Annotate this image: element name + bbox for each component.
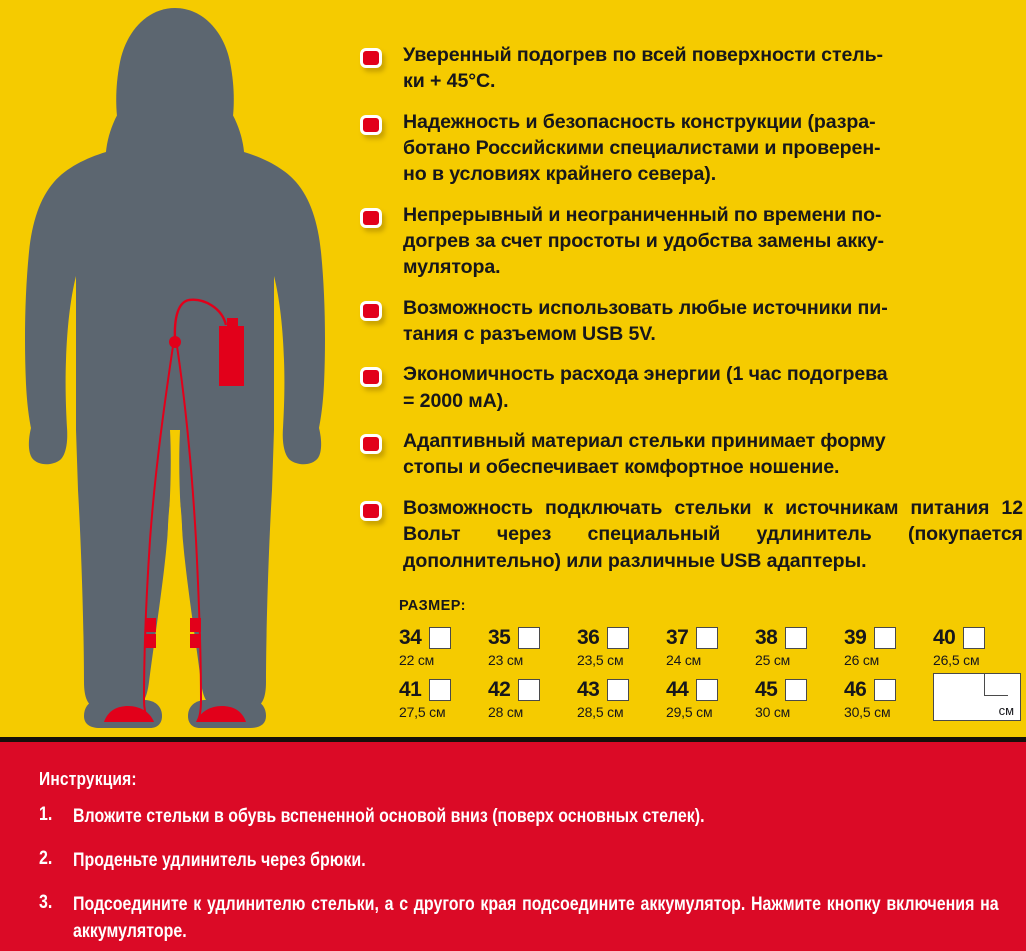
feature-item: Непрерывный и неограниченный по времени … (357, 202, 1023, 281)
size-cell-42[interactable]: 42 28 см (488, 677, 577, 720)
size-selector: РАЗМЕР: 34 22 см 35 23 см 36 (399, 598, 1023, 729)
size-row: 34 22 см 35 23 см 36 23,5 см (399, 625, 1023, 668)
size-number: 40 (933, 626, 955, 650)
instructions-list: 1. Вложите стельки в обувь вспененной ос… (39, 804, 999, 951)
instruction-text: Вложите стельки в обувь вспененной основ… (73, 804, 999, 831)
feature-text: Адаптивный материал стельки принимает фо… (403, 428, 1023, 481)
battery-pack (219, 326, 244, 386)
size-checkbox[interactable] (874, 679, 896, 701)
size-checkbox[interactable] (785, 679, 807, 701)
size-checkbox[interactable] (429, 679, 451, 701)
silhouette-illustration (0, 0, 352, 737)
feature-item: Возможность использовать любые источники… (357, 295, 1023, 348)
size-cell-39[interactable]: 39 26 см (844, 625, 933, 668)
size-cell-40[interactable]: 40 26,5 см (933, 625, 1022, 668)
feature-item: Экономичность расхода энергии (1 час под… (357, 361, 1023, 414)
size-cm: 30 см (755, 704, 844, 720)
instruction-number: 2. (39, 848, 52, 870)
bullet-icon (360, 301, 382, 321)
size-cell-46[interactable]: 46 30,5 см (844, 677, 933, 720)
right-connector-lower (190, 634, 201, 648)
size-cell-43[interactable]: 43 28,5 см (577, 677, 666, 720)
feature-item: Адаптивный материал стельки принимает фо… (357, 428, 1023, 481)
size-cell-44[interactable]: 44 29,5 см (666, 677, 755, 720)
size-cm: 23,5 см (577, 652, 666, 668)
size-cell-37[interactable]: 37 24 см (666, 625, 755, 668)
instructions-section: Инструкция: 1. Вложите стельки в обувь в… (0, 742, 1026, 951)
size-checkbox[interactable] (607, 627, 629, 649)
size-cm: 23 см (488, 652, 577, 668)
size-number: 34 (399, 626, 421, 650)
size-number: 44 (666, 678, 688, 702)
bullet-icon (360, 48, 382, 68)
size-title: РАЗМЕР: (399, 598, 1023, 614)
size-number: 35 (488, 626, 510, 650)
size-cell-36[interactable]: 36 23,5 см (577, 625, 666, 668)
size-cell-34[interactable]: 34 22 см (399, 625, 488, 668)
instruction-item: 1. Вложите стельки в обувь вспененной ос… (39, 804, 999, 831)
measurement-notch (984, 674, 1008, 696)
bullet-icon (360, 434, 382, 454)
size-checkbox[interactable] (785, 627, 807, 649)
size-checkbox[interactable] (518, 679, 540, 701)
instruction-number: 1. (39, 804, 52, 826)
battery-pack-tab (227, 318, 238, 327)
size-number: 37 (666, 626, 688, 650)
size-cm: 26 см (844, 652, 933, 668)
size-cm: 22 см (399, 652, 488, 668)
size-checkbox[interactable] (696, 627, 718, 649)
size-cm: 28,5 см (577, 704, 666, 720)
feature-text: Возможность использовать любые источники… (403, 295, 1023, 348)
bullet-icon (360, 115, 382, 135)
size-number: 36 (577, 626, 599, 650)
size-cell-41[interactable]: 41 27,5 см (399, 677, 488, 720)
size-cm: 25 см (755, 652, 844, 668)
size-checkbox[interactable] (696, 679, 718, 701)
instruction-text: Подсоедините к удлинителю стельки, а с д… (73, 892, 999, 946)
feature-text: Возможность подключать стельки к источни… (403, 495, 1023, 574)
size-cell-45[interactable]: 45 30 см (755, 677, 844, 720)
size-number: 43 (577, 678, 599, 702)
size-checkbox[interactable] (874, 627, 896, 649)
left-connector-lower (145, 634, 156, 648)
size-checkbox[interactable] (963, 627, 985, 649)
feature-item: Надежность и безопасность конструкции (р… (357, 109, 1023, 188)
bullet-icon (360, 208, 382, 228)
size-row: 41 27,5 см 42 28 см 43 28,5 см (399, 677, 1023, 720)
size-cm: 28 см (488, 704, 577, 720)
size-number: 41 (399, 678, 421, 702)
instruction-item: 2. Проденьте удлинитель через брюки. (39, 848, 999, 875)
size-number: 42 (488, 678, 510, 702)
instructions-title: Инструкция: (39, 768, 137, 790)
feature-item: Уверенный подогрев по всей поверхности с… (357, 42, 1023, 95)
left-connector-upper (145, 618, 156, 632)
size-checkbox[interactable] (429, 627, 451, 649)
feature-text: Надежность и безопасность конструкции (р… (403, 109, 1023, 188)
feature-text: Экономичность расхода энергии (1 час под… (403, 361, 1023, 414)
bullet-icon (360, 367, 382, 387)
feature-item: Возможность подключать стельки к источни… (357, 495, 1023, 574)
size-number: 38 (755, 626, 777, 650)
size-number: 46 (844, 678, 866, 702)
size-cell-38[interactable]: 38 25 см (755, 625, 844, 668)
feature-text: Непрерывный и неограниченный по времени … (403, 202, 1023, 281)
cable-junction-dot (169, 336, 181, 348)
feature-text: Уверенный подогрев по всей поверхности с… (403, 42, 1023, 95)
bullet-icon (360, 501, 382, 521)
size-number: 45 (755, 678, 777, 702)
product-infographic: Уверенный подогрев по всей поверхности с… (0, 0, 1026, 951)
size-checkbox[interactable] (607, 679, 629, 701)
instruction-text: Проденьте удлинитель через брюки. (73, 848, 999, 875)
custom-measurement-cell[interactable]: см (933, 677, 1022, 720)
size-cell-35[interactable]: 35 23 см (488, 625, 577, 668)
size-number: 39 (844, 626, 866, 650)
right-connector-upper (190, 618, 201, 632)
instruction-number: 3. (39, 892, 52, 914)
size-cm: 24 см (666, 652, 755, 668)
feature-list: Уверенный подогрев по всей поверхности с… (357, 42, 1023, 588)
size-cm: 26,5 см (933, 652, 1022, 668)
size-cm: 29,5 см (666, 704, 755, 720)
size-checkbox[interactable] (518, 627, 540, 649)
size-cm: 30,5 см (844, 704, 933, 720)
custom-measurement-field[interactable]: см (933, 673, 1021, 721)
instruction-item: 3. Подсоедините к удлинителю стельки, а … (39, 892, 999, 946)
measurement-unit-label: см (999, 703, 1014, 718)
size-cm: 27,5 см (399, 704, 488, 720)
